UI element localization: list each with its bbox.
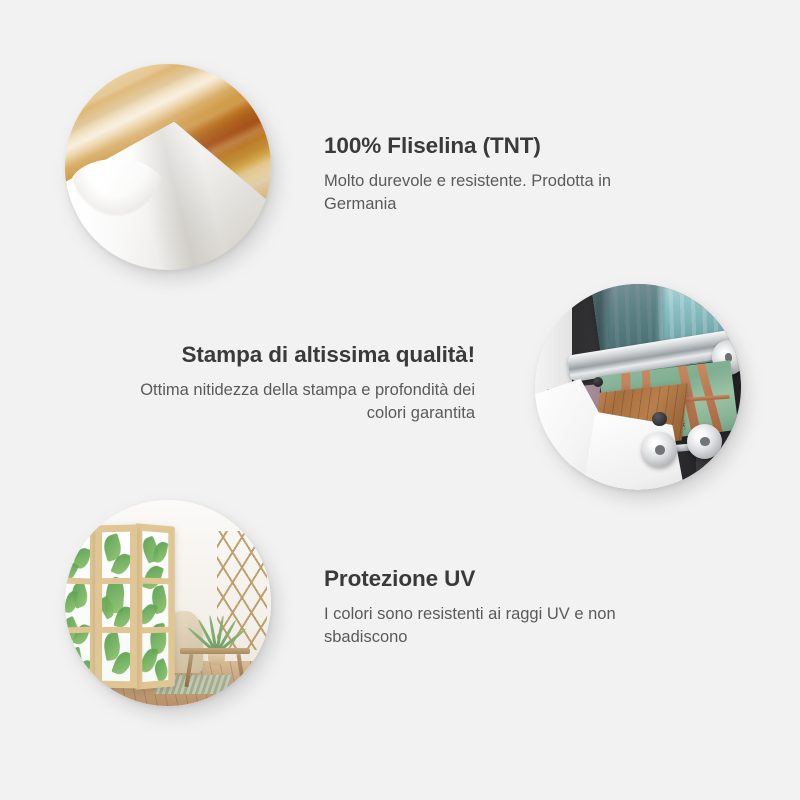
- screen-panel: [135, 523, 174, 689]
- feature-heading: 100% Fliselina (TNT): [324, 132, 664, 160]
- printing-press-scene: [535, 284, 741, 490]
- press-black-knob: [652, 412, 666, 426]
- wallpaper-scene: [65, 64, 271, 270]
- tropical-leaf-print: [65, 530, 90, 681]
- room-side-table: [180, 648, 250, 685]
- printing-press-photo: [535, 284, 741, 490]
- feature-panel: 100% Fliselina (TNT) Molto durevole e re…: [0, 0, 800, 800]
- wallpaper-roll-peel-photo: [65, 64, 271, 270]
- screen-panel: [65, 522, 96, 689]
- tropical-leaf-print: [102, 531, 130, 680]
- feature-text-protezione-uv: Protezione UV I colori sono resistenti a…: [324, 565, 664, 650]
- press-small-knob: [593, 377, 603, 387]
- wallpaper-vignette: [65, 64, 271, 270]
- tropical-room-divider-photo: [65, 500, 271, 706]
- screen-panel: [95, 524, 137, 688]
- feature-text-fliselina: 100% Fliselina (TNT) Molto durevole e re…: [324, 132, 664, 217]
- feature-body: Molto durevole e resistente. Prodotta in…: [324, 170, 664, 217]
- feature-body: Ottima nitidezza della stampa e profondi…: [140, 379, 475, 426]
- folding-screen-room-divider: [65, 525, 189, 688]
- tropical-leaf-print: [142, 531, 168, 682]
- feature-heading: Stampa di altissima qualità!: [140, 341, 475, 369]
- feature-text-stampa-qualita: Stampa di altissima qualità! Ottima niti…: [140, 341, 475, 426]
- feature-heading: Protezione UV: [324, 565, 664, 593]
- feature-body: I colori sono resistenti ai raggi UV e n…: [324, 603, 664, 650]
- interior-room-scene: [65, 500, 271, 706]
